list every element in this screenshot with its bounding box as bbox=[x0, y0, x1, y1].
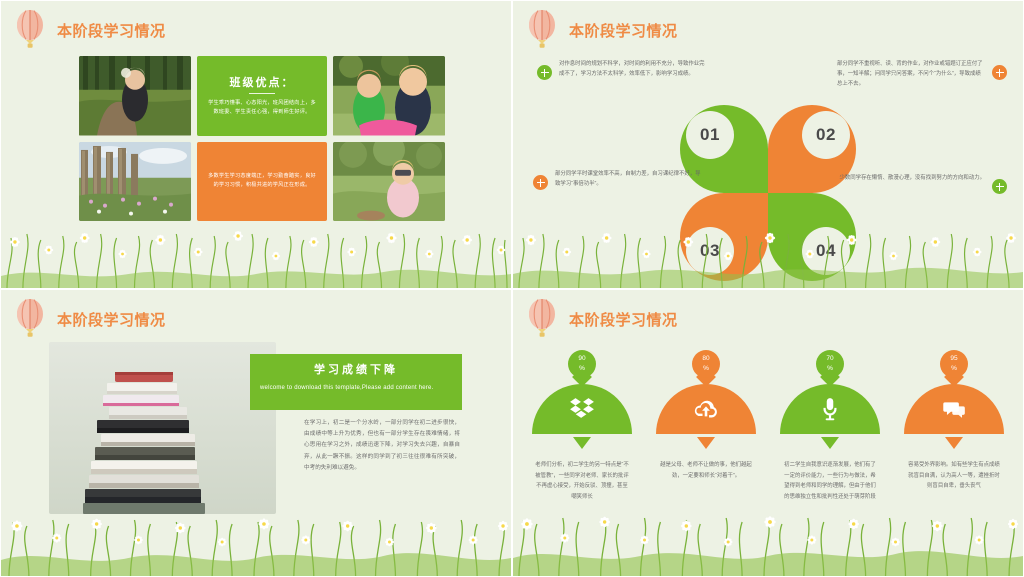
study-attitude-body: 多数学生学习态度端正，学习勤奋踏实，良好的学习习惯，积极共进的学风正在形成。 bbox=[207, 172, 317, 190]
pin-label: 95 % bbox=[940, 354, 968, 374]
page-title: 本阶段学习情况 bbox=[57, 20, 166, 41]
score-decline-paragraph: 在学习上，初二是一个分水岭，一部分同学在初二进步很快，由成绩中等上升为优秀，但也… bbox=[304, 418, 460, 474]
microphone-icon bbox=[817, 396, 843, 422]
slide-2-header: 本阶段学习情况 bbox=[527, 9, 678, 51]
slide-deck-grid: 本阶段学习情况 bbox=[0, 0, 1024, 577]
bullet-text: 部分同学不重视听、读、背的作业，对作业或错题订正应付了事，一知半解；问同学只问答… bbox=[837, 59, 985, 89]
bullet-item-3: 部分同学平时课堂效率不高，自制力差，自习课纪律不好，导致学习“事倍功半”。 bbox=[533, 169, 703, 190]
study-attitude-card: 多数学生学习态度端正，学习勤奋踏实，良好的学习习惯，积极共进的学风正在形成。 bbox=[197, 142, 327, 222]
girl-blowing-dandelion-photo bbox=[79, 56, 191, 136]
percent-value: 80 bbox=[692, 354, 720, 364]
grass-flower-decoration bbox=[513, 504, 1023, 576]
class-strengths-body: 学生乖巧懂事、心态阳光，班风团结向上，多数班委、学生责任心强，得到师生好评。 bbox=[207, 99, 317, 117]
dome-shape bbox=[904, 384, 1004, 434]
dome-caption: 初二学生自我意识逐渐发展，他们有了一定的评价能力，一些行为与做法，希望得到老师和… bbox=[782, 460, 878, 502]
bullet-text: 对作息时间的规划不科学，对时间的利用不充分，导致作业完成不了，学习方法不太科学，… bbox=[559, 59, 707, 79]
score-decline-subtitle: welcome to download this template,Please… bbox=[260, 384, 452, 394]
pinwheel-diagram: 01 02 03 04 bbox=[680, 105, 856, 281]
percent-pin: 95 % bbox=[940, 350, 968, 386]
pin-label: 90 % bbox=[568, 354, 596, 374]
page-title: 本阶段学习情况 bbox=[569, 20, 678, 41]
class-strengths-title: 班级优点： bbox=[230, 74, 295, 90]
percent-unit: % bbox=[692, 364, 720, 374]
hot-air-balloon-icon bbox=[15, 298, 49, 340]
stack-of-books-photo bbox=[49, 342, 276, 514]
page-title: 本阶段学习情况 bbox=[569, 309, 678, 330]
dropbox-icon bbox=[569, 396, 595, 422]
bullet-item-4: 少数同学存在懒惰、散漫心理，没有找到努力的方向和动力。 bbox=[837, 173, 1007, 194]
percent-pin: 70 % bbox=[816, 350, 844, 386]
caret-down-icon bbox=[821, 437, 839, 449]
wooden-fence-meadow-photo bbox=[79, 142, 191, 222]
score-decline-title: 学习成绩下降 bbox=[260, 361, 452, 377]
slide-4: 本阶段学习情况 90 % 老师们分析，初二学生的另 bbox=[512, 289, 1024, 577]
score-decline-band: 学习成绩下降 welcome to download this template… bbox=[250, 354, 462, 410]
petal-number: 04 bbox=[802, 227, 850, 275]
petal-number: 03 bbox=[686, 227, 734, 275]
dome-infographic: 90 % 老师们分析，初二学生的另一特点是“不被管教”，一些同学对老师、家长的批… bbox=[513, 350, 1023, 502]
bullet-item-1: 对作息时间的规划不科学，对时间的利用不充分，导致作业完成不了，学习方法不太科学，… bbox=[537, 59, 707, 80]
slide-4-header: 本阶段学习情况 bbox=[527, 298, 678, 340]
percent-pin: 80 % bbox=[692, 350, 720, 386]
bullet-item-2: 部分同学不重视听、读、背的作业，对作业或错题订正应付了事，一知半解；问同学只问答… bbox=[837, 59, 1007, 89]
slide-3-header: 本阶段学习情况 bbox=[15, 298, 166, 340]
percent-value: 95 bbox=[940, 354, 968, 364]
dome-caption: 老师们分析，初二学生的另一特点是“不被管教”，一些同学对老师、家长的批评不再虚心… bbox=[534, 460, 630, 502]
dome-item-4[interactable]: 95 % 容易受外界影响。如有些学生有点成绩就盲目自满，认为高人一等，遭挫折时则… bbox=[904, 350, 1004, 502]
class-strengths-card: 班级优点： 学生乖巧懂事、心态阳光，班风团结向上，多数班委、学生责任心强，得到师… bbox=[197, 56, 327, 136]
plus-icon bbox=[992, 65, 1007, 80]
dome-shape bbox=[780, 384, 880, 434]
bullet-text: 少数同学存在懒惰、散漫心理，没有找到努力的方向和动力。 bbox=[839, 173, 985, 183]
dome-item-2[interactable]: 80 % 越是父母、老师不让做的事，他们越起劲，一定要和师长“对着干”。 bbox=[656, 350, 756, 502]
dome-caption: 容易受外界影响。如有些学生有点成绩就盲目自满，认为高人一等，遭挫折时则盲目自卑，… bbox=[906, 460, 1002, 492]
dome-shape bbox=[532, 384, 632, 434]
hot-air-balloon-icon bbox=[527, 9, 561, 51]
slide-1-photo-grid: 班级优点： 学生乖巧懂事、心态阳光，班风团结向上，多数班委、学生责任心强，得到师… bbox=[79, 56, 445, 221]
grass-flower-decoration bbox=[1, 216, 511, 288]
two-boys-playing-photo bbox=[333, 56, 445, 136]
grass-flower-decoration bbox=[1, 504, 511, 576]
plus-icon bbox=[537, 65, 552, 80]
divider bbox=[249, 93, 275, 94]
plus-icon bbox=[533, 175, 548, 190]
slide-3: 本阶段学习情况 bbox=[0, 289, 512, 577]
page-title: 本阶段学习情况 bbox=[57, 309, 166, 330]
dome-caption: 越是父母、老师不让做的事，他们越起劲，一定要和师长“对着干”。 bbox=[658, 460, 754, 481]
petal-04[interactable]: 04 bbox=[768, 193, 856, 281]
dome-item-1[interactable]: 90 % 老师们分析，初二学生的另一特点是“不被管教”，一些同学对老师、家长的批… bbox=[532, 350, 632, 502]
pin-label: 70 % bbox=[816, 354, 844, 374]
chat-bubbles-icon bbox=[941, 396, 967, 422]
petal-03[interactable]: 03 bbox=[680, 193, 768, 281]
girl-with-binoculars-photo bbox=[333, 142, 445, 222]
cloud-upload-icon bbox=[693, 396, 719, 422]
slide-2: 本阶段学习情况 01 02 03 04 对作息时间的规划不科学，对时间的利用不充… bbox=[512, 0, 1024, 289]
pin-label: 80 % bbox=[692, 354, 720, 374]
petal-number: 02 bbox=[802, 111, 850, 159]
percent-value: 90 bbox=[568, 354, 596, 364]
plus-icon bbox=[992, 179, 1007, 194]
percent-pin: 90 % bbox=[568, 350, 596, 386]
caret-down-icon bbox=[573, 437, 591, 449]
hot-air-balloon-icon bbox=[15, 9, 49, 51]
percent-unit: % bbox=[816, 364, 844, 374]
caret-down-icon bbox=[945, 437, 963, 449]
bullet-text: 部分同学平时课堂效率不高，自制力差，自习课纪律不好，导致学习“事倍功半”。 bbox=[555, 169, 703, 189]
percent-value: 70 bbox=[816, 354, 844, 364]
petal-number: 01 bbox=[686, 111, 734, 159]
slide-1: 本阶段学习情况 bbox=[0, 0, 512, 289]
percent-unit: % bbox=[568, 364, 596, 374]
slide-1-header: 本阶段学习情况 bbox=[15, 9, 166, 51]
dome-item-3[interactable]: 70 % 初二学生自我意识逐渐发展，他们有了一定的评价能力，一些行为与做法，希望… bbox=[780, 350, 880, 502]
hot-air-balloon-icon bbox=[527, 298, 561, 340]
caret-down-icon bbox=[697, 437, 715, 449]
percent-unit: % bbox=[940, 364, 968, 374]
dome-shape bbox=[656, 384, 756, 434]
